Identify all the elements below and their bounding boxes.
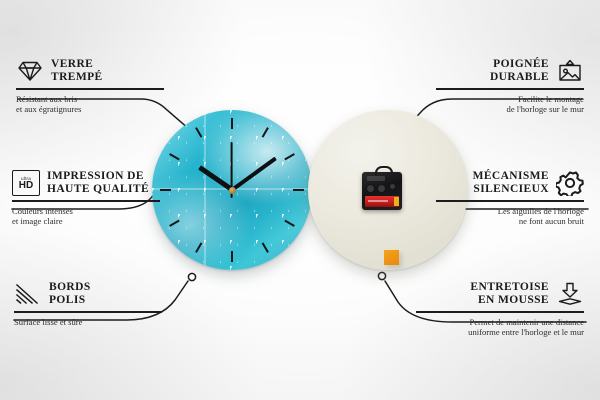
feature-bords-polis: BORDS POLIS Surface lisse et sûre	[14, 281, 162, 327]
feature-impression-haute-qualite: ultra HD IMPRESSION DE HAUTE QUALITÉ Cou…	[12, 170, 160, 227]
picture-frame-icon	[556, 59, 584, 83]
diamond-icon	[16, 59, 44, 83]
feature-title: BORDS POLIS	[49, 281, 91, 307]
movement-dial-2	[377, 184, 386, 193]
battery	[365, 196, 399, 207]
feature-title: ENTRETOISE EN MOUSSE	[470, 281, 549, 307]
feature-poignee-durable: POIGNÉE DURABLE Facilite le montage de l…	[436, 58, 584, 115]
feature-header: ultra HD IMPRESSION DE HAUTE QUALITÉ	[12, 170, 160, 196]
ultra-hd-large-text: HD	[19, 181, 33, 191]
feature-entretoise-en-mousse: ENTRETOISE EN MOUSSE Permet de maintenir…	[416, 281, 584, 338]
clock-tick-9	[160, 189, 171, 191]
feature-title: MÉCANISME SILENCIEUX	[473, 170, 549, 196]
feature-mecanisme-silencieux: MÉCANISME SILENCIEUX Les aiguilles de l'…	[436, 170, 584, 227]
feature-divider	[436, 88, 584, 90]
feature-title: POIGNÉE DURABLE	[490, 58, 549, 84]
clock-tick-12	[231, 118, 233, 129]
feature-header: VERRE TREMPÉ	[16, 58, 164, 84]
foam-spacer-icon	[556, 282, 584, 306]
feature-subtitle: Surface lisse et sûre	[14, 317, 162, 328]
connector-dot-entretoise	[378, 272, 385, 279]
feature-verre-trempe: VERRE TREMPÉ Résistant aux bris et aux é…	[16, 58, 164, 115]
clock-tick-3	[293, 189, 304, 191]
feature-header: ENTRETOISE EN MOUSSE	[416, 281, 584, 307]
feature-title: IMPRESSION DE HAUTE QUALITÉ	[47, 170, 149, 196]
clock-center-pivot	[229, 187, 236, 194]
gear-icon	[556, 170, 584, 196]
feature-divider	[16, 88, 164, 90]
feature-divider	[12, 200, 160, 202]
movement-dial-3	[389, 183, 396, 190]
battery-stripe	[368, 200, 388, 202]
feature-header: POIGNÉE DURABLE	[436, 58, 584, 84]
battery-cap	[394, 197, 399, 206]
infographic-canvas: VERRE TREMPÉ Résistant aux bris et aux é…	[0, 0, 600, 400]
feature-divider	[14, 311, 162, 313]
feature-header: BORDS POLIS	[14, 281, 162, 307]
connector-dot-bords-polis	[188, 273, 195, 280]
feature-subtitle: Permet de maintenir une distance uniform…	[416, 317, 584, 338]
clock-front-view	[152, 110, 312, 270]
clock-tick-6	[231, 251, 233, 262]
polished-edge-icon	[14, 282, 42, 306]
feature-divider	[416, 311, 584, 313]
feature-subtitle: Couleurs intenses et image claire	[12, 206, 160, 227]
feature-subtitle: Résistant aux bris et aux égratignures	[16, 94, 164, 115]
hanging-hook-icon	[375, 166, 393, 176]
movement-dial-1	[366, 184, 375, 193]
feature-title: VERRE TREMPÉ	[51, 58, 103, 84]
feature-subtitle: Facilite le montage de l'horloge sur le …	[436, 94, 584, 115]
feature-header: MÉCANISME SILENCIEUX	[436, 170, 584, 196]
ultra-hd-icon: ultra HD	[12, 170, 40, 196]
feature-divider	[436, 200, 584, 202]
movement-label	[367, 176, 385, 181]
feature-subtitle: Les aiguilles de l'horloge ne font aucun…	[436, 206, 584, 227]
quartz-movement	[362, 172, 402, 210]
foam-spacer	[384, 250, 399, 265]
